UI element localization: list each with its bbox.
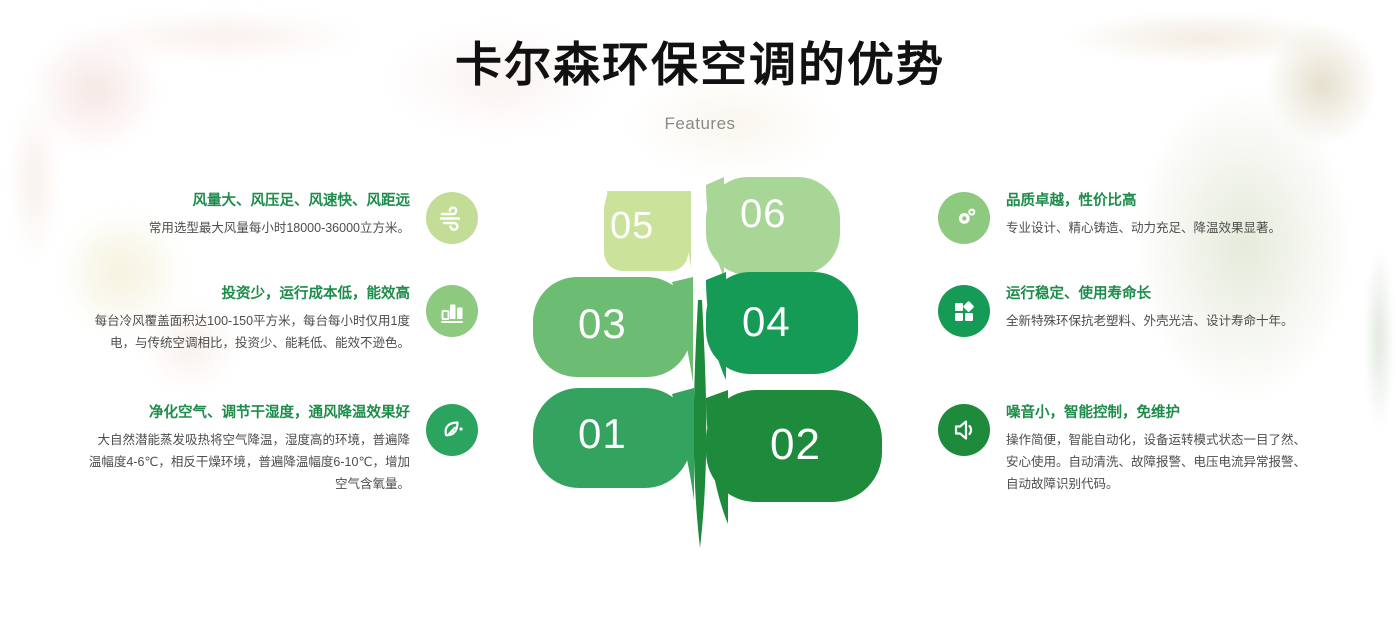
- speaker-icon: [938, 404, 990, 456]
- feature-heading-quality: 品质卓越，性价比高: [1006, 192, 1281, 211]
- gears-icon: [938, 192, 990, 244]
- feature-heading-wind: 风量大、风压足、风速快、风距远: [149, 192, 410, 211]
- page-title: 卡尔森环保空调的优势: [0, 38, 1400, 92]
- feature-item-air-quality: 净化空气、调节干湿度，通风降温效果好 大自然潜能蒸发吸热将空气降温，湿度高的环境…: [88, 404, 478, 495]
- wind-icon: [426, 192, 478, 244]
- feature-heading-efficiency: 投资少，运行成本低，能效高: [88, 285, 410, 304]
- leaf-body-02: [706, 390, 882, 502]
- feature-heading-noise: 噪音小，智能控制，免维护: [1006, 404, 1318, 423]
- feature-item-durability: 运行稳定、使用寿命长 全新特殊环保抗老塑料、外壳光洁、设计寿命十年。: [938, 285, 1318, 337]
- leaf-body-03: [533, 277, 691, 377]
- page-header: 卡尔森环保空调的优势 Features: [0, 38, 1400, 134]
- feature-item-quality: 品质卓越，性价比高 专业设计、精心铸造、动力充足、降温效果显著。: [938, 192, 1318, 244]
- feature-body-wind: 常用选型最大风量每小时18000-36000立方米。: [149, 218, 410, 240]
- feature-heading-air-quality: 净化空气、调节干湿度，通风降温效果好: [88, 404, 410, 423]
- bar-chart-icon: [426, 285, 478, 337]
- page-subtitle: Features: [0, 114, 1400, 134]
- plant-stem: [694, 300, 707, 548]
- feature-body-noise: 操作简便，智能自动化，设备运转模式状态一目了然、安心使用。自动清洗、故障报警、电…: [1006, 430, 1318, 496]
- leaf-body-01: [533, 388, 691, 488]
- feature-body-quality: 专业设计、精心铸造、动力充足、降温效果显著。: [1006, 218, 1281, 240]
- leaf-body-04: [706, 272, 858, 374]
- blocks-icon: [938, 285, 990, 337]
- feature-item-wind: 风量大、风压足、风速快、风距远 常用选型最大风量每小时18000-36000立方…: [98, 192, 478, 244]
- eco-leaf-icon: [426, 404, 478, 456]
- feature-body-durability: 全新特殊环保抗老塑料、外壳光洁、设计寿命十年。: [1006, 311, 1294, 333]
- leaf-body-05: [604, 196, 690, 268]
- feature-body-air-quality: 大自然潜能蒸发吸热将空气降温，湿度高的环境，普遍降温幅度4-6℃，相反干燥环境，…: [88, 430, 410, 496]
- feature-heading-durability: 运行稳定、使用寿命长: [1006, 285, 1294, 304]
- leaf-body-06: [706, 177, 840, 275]
- feature-item-efficiency: 投资少，运行成本低，能效高 每台冷风覆盖面积达100-150平方米，每台每小时仅…: [88, 285, 478, 355]
- feature-item-noise: 噪音小，智能控制，免维护 操作简便，智能自动化，设备运转模式状态一目了然、安心使…: [938, 404, 1318, 495]
- feature-body-efficiency: 每台冷风覆盖面积达100-150平方米，每台每小时仅用1度电，与传统空调相比，投…: [88, 311, 410, 355]
